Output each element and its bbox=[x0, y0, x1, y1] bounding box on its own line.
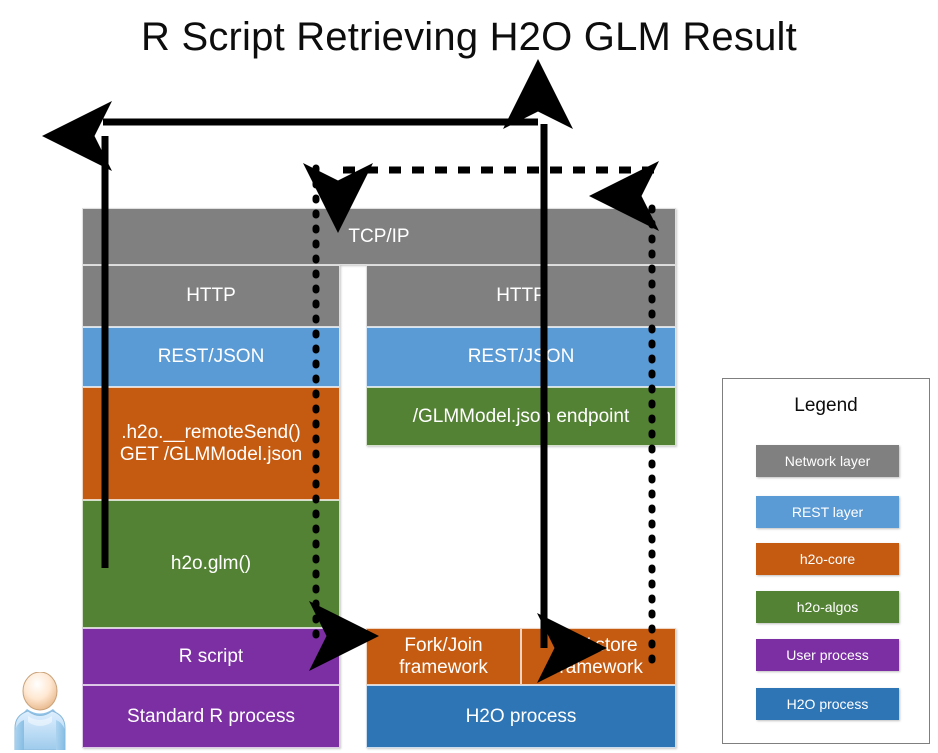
block-tcpip: TCP/IP bbox=[82, 208, 676, 265]
legend-item-h2o-algos: h2o-algos bbox=[756, 591, 899, 623]
legend-item-h2o-process: H2O process bbox=[756, 688, 899, 720]
block-right-forkjoin-framework: Fork/Join framework bbox=[366, 628, 521, 685]
block-left-rest-json: REST/JSON bbox=[82, 327, 340, 387]
legend-item-network-layer: Network layer bbox=[756, 445, 899, 477]
legend-item-h2o-core: h2o-core bbox=[756, 543, 899, 575]
legend-item-user-process: User process bbox=[756, 639, 899, 671]
legend-panel: Legend Network layer REST layer h2o-core… bbox=[722, 378, 930, 744]
block-left-h2o-glm: h2o.glm() bbox=[82, 500, 340, 628]
legend-item-label: h2o-core bbox=[800, 551, 855, 567]
block-left-r-script: R script bbox=[82, 628, 340, 685]
legend-item-label: REST layer bbox=[792, 504, 863, 520]
block-left-remotesend: .h2o.__remoteSend() GET /GLMModel.json bbox=[82, 387, 340, 500]
legend-item-label: h2o-algos bbox=[797, 599, 859, 615]
legend-title: Legend bbox=[723, 395, 929, 417]
block-left-http: HTTP bbox=[82, 265, 340, 327]
slide-canvas: R Script Retrieving H2O GLM Result TCP/I… bbox=[0, 0, 938, 753]
block-right-http: HTTP bbox=[366, 265, 676, 327]
legend-item-label: H2O process bbox=[787, 696, 869, 712]
legend-item-label: User process bbox=[786, 647, 868, 663]
user-avatar-icon bbox=[4, 672, 78, 750]
block-right-glmmodel-endpoint: /GLMModel.json endpoint bbox=[366, 387, 676, 446]
legend-item-rest-layer: REST layer bbox=[756, 496, 899, 528]
block-right-kv-store-framework: K/V store framework bbox=[521, 628, 676, 685]
page-title: R Script Retrieving H2O GLM Result bbox=[0, 14, 938, 60]
block-right-rest-json: REST/JSON bbox=[366, 327, 676, 387]
block-left-standard-r-process: Standard R process bbox=[82, 685, 340, 748]
block-right-h2o-process: H2O process bbox=[366, 685, 676, 748]
legend-item-label: Network layer bbox=[785, 453, 871, 469]
